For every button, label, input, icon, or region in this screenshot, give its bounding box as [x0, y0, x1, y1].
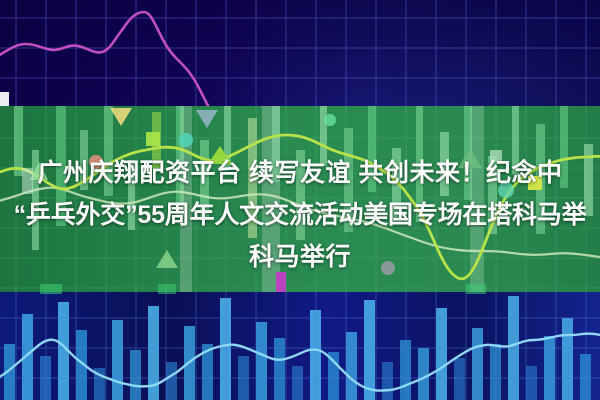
financial-chart-background [0, 0, 600, 400]
lower-panel [0, 292, 600, 400]
banner-image: 广州庆翔配资平台 续写友谊 共创未来！纪念中 “乒乓外交”55周年人文交流活动美… [0, 0, 600, 400]
green-band-panel [0, 106, 600, 292]
